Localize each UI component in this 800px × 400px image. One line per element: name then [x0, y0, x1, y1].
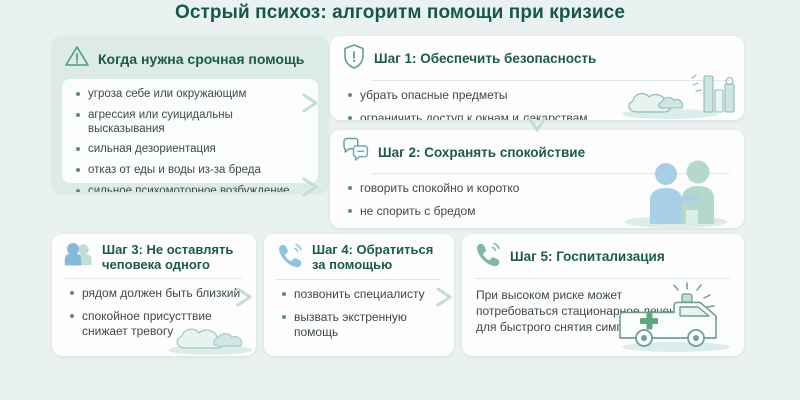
red-flags-list: угроза себе или окружающим агрессия или …	[88, 88, 308, 192]
list-item: не спорить с бредом	[360, 204, 732, 219]
step-4-list: позвонить специалисту вызвать экстренную…	[264, 280, 454, 348]
list-item: отказ от еды и воды из-за бреда	[88, 164, 308, 178]
arrow-flags-step1	[300, 92, 326, 114]
red-flags-heading: Когда нужна срочная помощь	[98, 51, 304, 67]
step-4-header: Шаг 4: Обратиться за помощью	[264, 234, 454, 279]
warning-triangle-icon	[64, 44, 90, 73]
step-3-card: Шаг 3: Не оставлять чеповека одного рядо…	[52, 234, 256, 356]
step-3-heading: Шаг 3: Не оставлять чеповека одного	[102, 242, 244, 273]
list-item: спокойное присусттвие снижает тревогу	[82, 309, 244, 339]
step-3-list: рядом должен быть близкий спокойное прис…	[52, 279, 256, 347]
step-1-card: Шаг 1: Обеспечить безопасность убрать оп…	[330, 36, 744, 120]
arrow-step1-step2	[526, 114, 548, 140]
list-item: не подтверждать бредовые идеи	[360, 227, 732, 228]
phone-signal-icon	[276, 242, 304, 274]
arrow-step4-step5	[434, 286, 460, 308]
page-title: Острый психоз: алгоритм помощи при кризи…	[0, 2, 800, 24]
step-1-header: Шаг 1: Обеспечить безопасность	[330, 36, 744, 80]
list-item: говорить спокойно и коротко	[360, 181, 732, 196]
list-item: позвонить специалисту	[294, 287, 442, 302]
step-5-heading: Шаг 5: Госпитализация	[510, 249, 665, 265]
step-3-header: Шаг 3: Не оставлять чеповека одного	[52, 234, 256, 278]
step-2-list: говорить спокойно и коротко не спорить с…	[330, 174, 744, 228]
list-item: рядом должен быть близкий	[82, 286, 244, 301]
two-persons-icon	[64, 242, 94, 273]
list-item: угроза себе или окружающим	[88, 88, 308, 102]
phone-signal-icon	[474, 241, 502, 273]
list-item: сильная дезориентация	[88, 143, 308, 157]
step-4-card: Шаг 4: Обратиться за помощью позвонить с…	[264, 234, 454, 356]
list-item: агрессия или суицидальны высказывания	[88, 109, 308, 137]
step-1-heading: Шаг 1: Обеспечить безопасность	[374, 51, 596, 67]
step-5-card: Шаг 5: Госпитализация При высоком риске …	[462, 234, 744, 356]
red-flags-card: Когда нужна срочная помощь угроза себе и…	[52, 36, 328, 192]
red-flags-header: Когда нужна срочная помощь	[52, 36, 328, 79]
list-item: вызвать экстренную помощь	[294, 310, 442, 340]
step-5-header: Шаг 5: Госпитализация	[462, 234, 744, 278]
list-item: сильное психомоторное возбуждение	[88, 185, 308, 192]
speech-bubbles-icon	[342, 137, 370, 168]
step-5-paragraph: При высоком риске может потребоваться ст…	[462, 279, 713, 336]
arrow-step3-step4	[234, 286, 260, 308]
step-4-heading: Шаг 4: Обратиться за помощью	[312, 242, 442, 273]
infographic-canvas: Острый психоз: алгоритм помощи при кризи…	[0, 0, 800, 400]
shield-exclamation-icon	[342, 43, 366, 75]
step-2-card: Шаг 2: Сохранять спокойствие говорить сп…	[330, 130, 744, 228]
arrow-step2-step3	[300, 176, 326, 198]
list-item: убрать опасные предметы	[360, 88, 732, 103]
step-2-heading: Шаг 2: Сохранять спокойствие	[378, 145, 585, 161]
red-flags-list-panel: угроза себе или окружающим агрессия или …	[62, 79, 318, 183]
